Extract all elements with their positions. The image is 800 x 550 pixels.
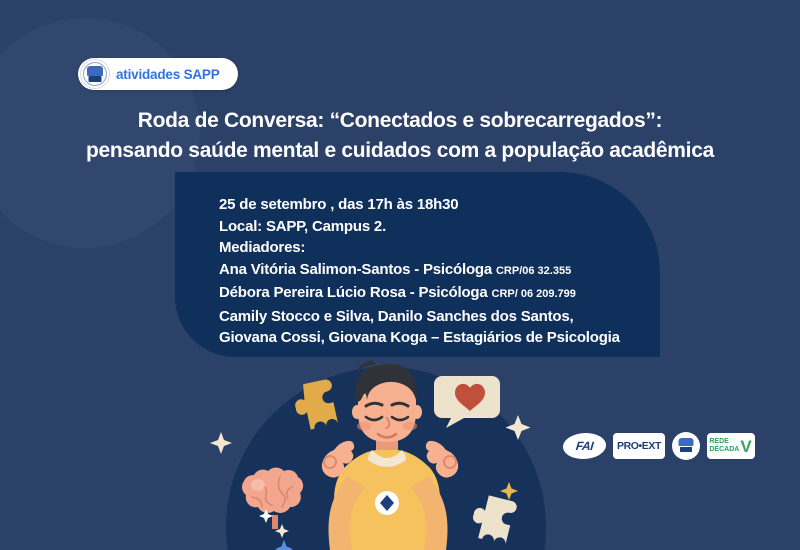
mediator-row: Débora Pereira Lúcio Rosa - Psicóloga CR… (219, 282, 660, 306)
fai-logo: FAI (563, 433, 606, 459)
title-line-1: Roda de Conversa: “Conectados e sobrecar… (138, 109, 662, 132)
activities-badge-label: atividades SAPP (116, 67, 220, 82)
decada-top-label: REDE (709, 438, 739, 446)
partner-logos: FAI PRO•EXT REDE DÉCADA V (563, 432, 755, 460)
mediators-label: Mediadores: (219, 237, 660, 259)
sapp-seal-icon (80, 59, 110, 89)
interns-line: Camily Stocco e Silva, Danilo Sanches do… (219, 306, 660, 328)
page-title: Roda de Conversa: “Conectados e sobrecar… (0, 106, 800, 166)
mediator-crp: CRP/ 06 209.799 (492, 288, 576, 300)
meditating-person-illustration (196, 352, 576, 550)
mediator-crp: CRP/06 32.355 (496, 265, 571, 277)
decada-vida-logo: REDE DÉCADA V (707, 433, 755, 459)
interns-line: Giovana Cossi, Giovana Koga – Estagiário… (219, 327, 660, 349)
mediator-name: Débora Pereira Lúcio Rosa - Psicóloga (219, 284, 488, 301)
event-location: Local: SAPP, Campus 2. (219, 216, 660, 238)
decada-mid-label: DÉCADA (709, 446, 739, 454)
sapp-seal-logo (672, 432, 700, 460)
mediator-row: Ana Vitória Salimon-Santos - Psicóloga C… (219, 259, 660, 283)
mediator-name: Ana Vitória Salimon-Santos - Psicóloga (219, 261, 492, 278)
title-line-2: pensando saúde mental e cuidados com a p… (40, 136, 760, 166)
fai-logo-label: FAI (562, 433, 608, 459)
activities-badge[interactable]: atividades SAPP (78, 58, 238, 90)
event-info-panel: 25 de setembro , das 17h às 18h30 Local:… (175, 172, 660, 357)
poster-canvas: atividades SAPP Roda de Conversa: “Conec… (0, 0, 800, 550)
event-datetime: 25 de setembro , das 17h às 18h30 (219, 194, 660, 216)
proext-logo-label: PRO•EXT (613, 433, 665, 459)
proext-logo: PRO•EXT (613, 433, 665, 459)
